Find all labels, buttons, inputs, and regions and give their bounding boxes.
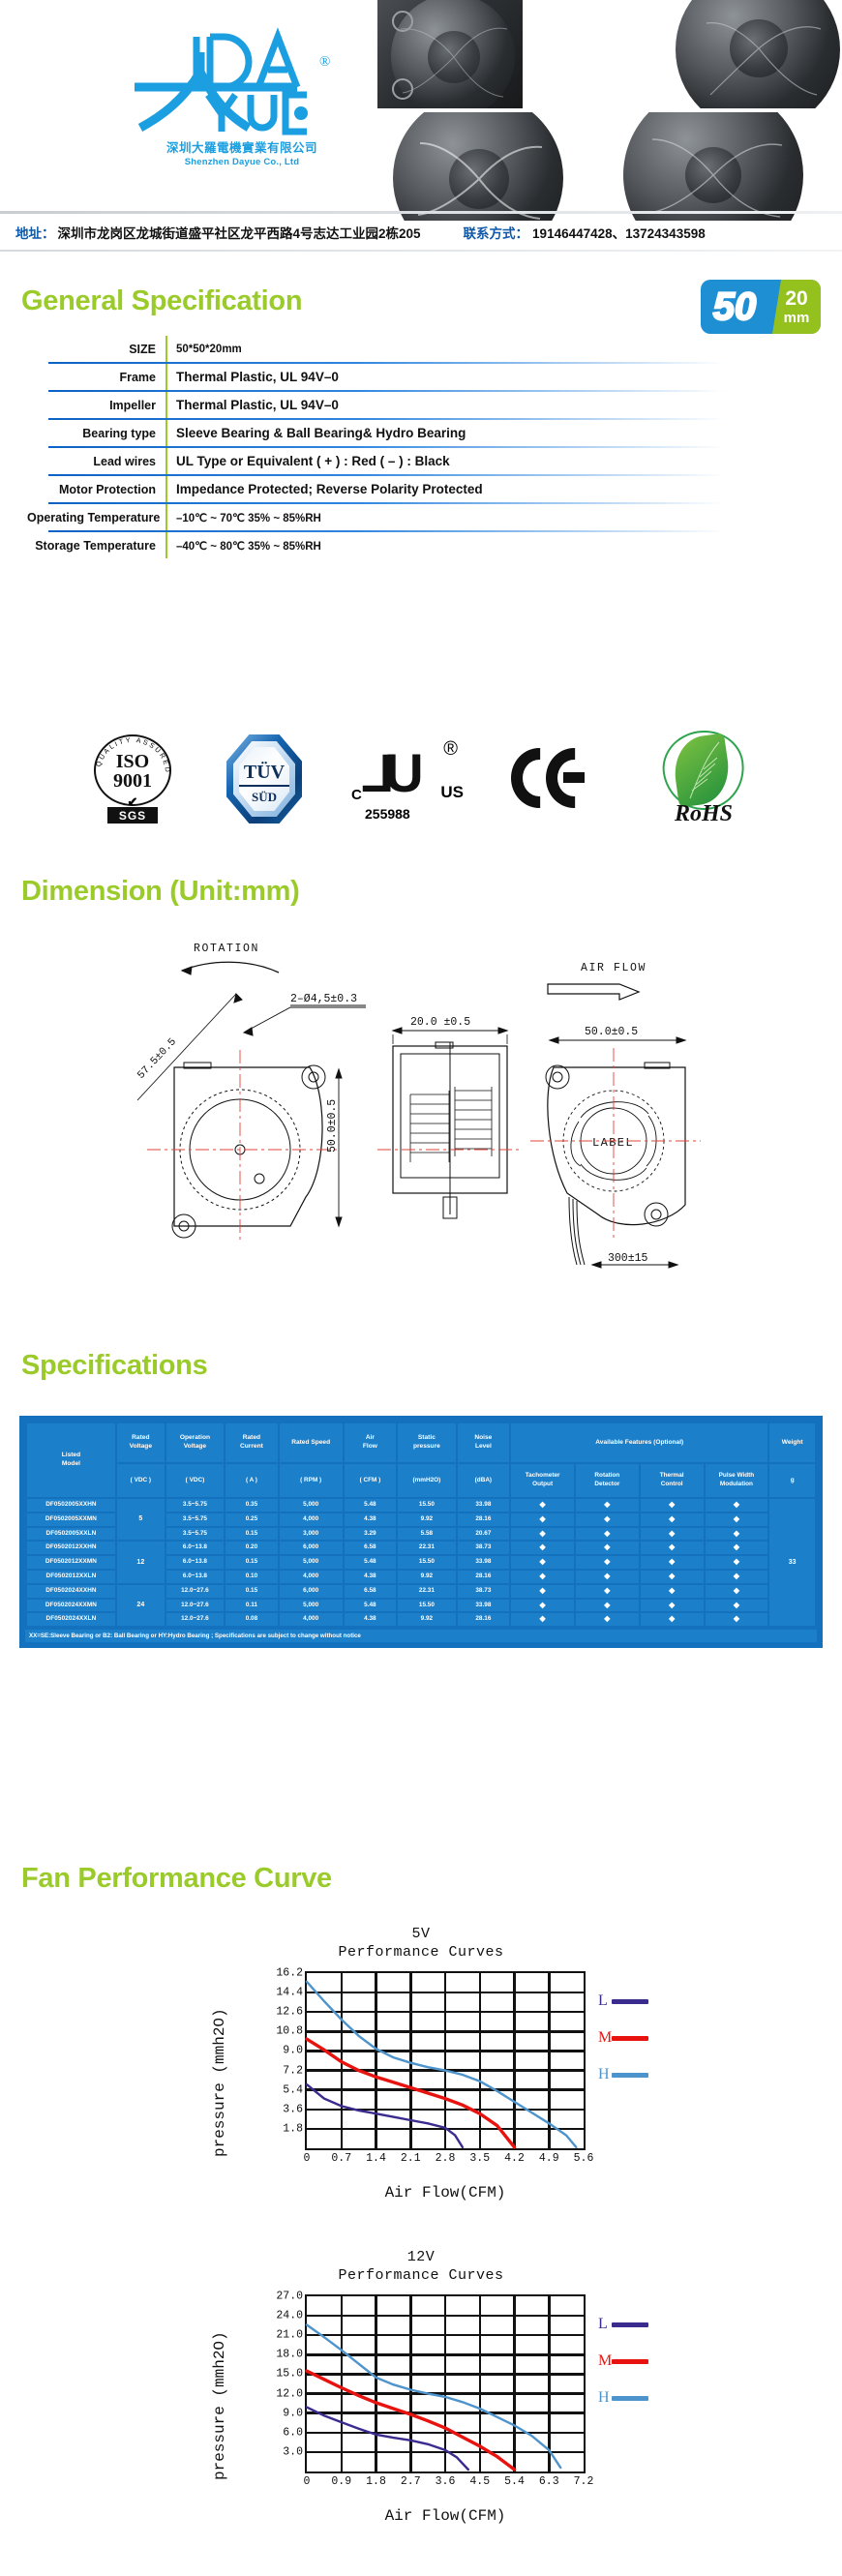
cell-model: DF0502024XXLN (27, 1613, 115, 1626)
gs-value: Thermal Plastic, UL 94V–0 (167, 370, 339, 384)
contact-label: 联系方式： (464, 223, 529, 242)
cell-tachometer-output: ◆ (511, 1499, 574, 1512)
cell-thermal-control: ◆ (641, 1528, 704, 1541)
cell-tachometer-output: ◆ (511, 1600, 574, 1612)
cell-air-flow: 4.38 (345, 1571, 397, 1583)
cell-rated-current: 0.15 (226, 1585, 278, 1598)
chart-12v-ylabel: pressure (mmh2O) (211, 2296, 228, 2480)
cell-model: DF0502012XXLN (27, 1571, 115, 1583)
badge-size: 50 (701, 280, 772, 334)
cell-thermal-control: ◆ (641, 1571, 704, 1583)
gs-row-frame: Frame Thermal Plastic, UL 94V–0 (27, 364, 792, 390)
x-axis-tick-label: 2.8 (436, 2152, 456, 2165)
address-value: 深圳市龙岗区龙城街道盛平社区龙平西路4号志达工业园2栋205 (58, 223, 421, 242)
rohs-leaf-veins (646, 731, 762, 810)
legend-swatch (612, 2036, 648, 2041)
dimension-drawing-svg: ROTATION 57.5±0.5 (0, 924, 842, 1292)
gs-row-bearing-type: Bearing type Sleeve Bearing & Ball Beari… (27, 420, 792, 446)
cell-rotation-detector: ◆ (576, 1528, 639, 1541)
cell-rotation-detector: ◆ (576, 1513, 639, 1526)
gs-value: Thermal Plastic, UL 94V–0 (167, 398, 339, 412)
cell-static-pressure: 22.31 (398, 1542, 455, 1554)
spec-header-row-main: Listed Model Rated Voltage Operation Vol… (27, 1423, 815, 1462)
gs-key: SIZE (27, 343, 165, 356)
chart-5v-legend: LMH (598, 1983, 652, 2093)
gs-value: –10℃ ~ 70℃ 35% ~ 85%RH (167, 511, 321, 524)
chart-5v-subtitle: Performance Curves (194, 1943, 648, 1962)
contact-bar: 地址： 深圳市龙岗区龙城街道盛平社区龙平西路4号志达工业园2栋205 联系方式：… (0, 217, 842, 248)
chart-5v-title: 5V (194, 1925, 648, 1943)
col-rated-speed: Rated Speed (280, 1423, 343, 1462)
depth-dimension: 20.0 ±0.5 (410, 1016, 470, 1029)
unit-operation-voltage: ( VDC) (166, 1464, 224, 1497)
x-axis-tick-label: 1.8 (366, 2475, 386, 2488)
cell-pulse-width-modulation: ◆ (706, 1613, 768, 1626)
cell-pulse-width-modulation: ◆ (706, 1600, 768, 1612)
x-axis-tick-label: 5.6 (574, 2152, 594, 2165)
cell-noise-level: 28.16 (458, 1513, 510, 1526)
chart-5v-plot: 00.71.42.12.83.54.24.95.61.83.65.47.29.0… (305, 1971, 586, 2150)
cell-air-flow: 3.29 (345, 1528, 397, 1541)
legend-swatch (612, 1999, 648, 2004)
cell-rated-speed: 6,000 (280, 1542, 343, 1554)
cell-rotation-detector: ◆ (576, 1556, 639, 1569)
company-name-english: Shenzhen Dayue Co., Ltd (185, 157, 300, 167)
cell-rotation-detector: ◆ (576, 1613, 639, 1626)
gs-key: Storage Temperature (27, 539, 165, 553)
x-axis-tick-label: 2.1 (401, 2152, 421, 2165)
logo-mark-icon: ® (121, 19, 363, 135)
tuv-sud-label: SÜD (226, 790, 302, 805)
cell-rated-current: 0.35 (226, 1499, 278, 1512)
cell-thermal-control: ◆ (641, 1600, 704, 1612)
cell-tachometer-output: ◆ (511, 1528, 574, 1541)
chart-12v-plot: 00.91.82.73.64.55.46.37.23.06.09.012.015… (305, 2294, 586, 2473)
unit-rated-speed: ( RPM ) (280, 1464, 343, 1497)
cell-thermal-control: ◆ (641, 1499, 704, 1512)
svg-text:®: ® (319, 54, 330, 70)
cell-air-flow: 5.48 (345, 1600, 397, 1612)
legend-swatch (612, 2359, 648, 2364)
col-available-features: Available Features (Optional) (511, 1423, 767, 1462)
specifications-table-wrapper: Listed Model Rated Voltage Operation Vol… (19, 1416, 823, 1648)
chart-5v-xlabel: Air Flow(CFM) (305, 2184, 586, 2202)
fan-photo-3 (377, 112, 581, 221)
cell-static-pressure: 9.92 (398, 1513, 455, 1526)
cell-thermal-control: ◆ (641, 1542, 704, 1554)
cell-pulse-width-modulation: ◆ (706, 1556, 768, 1569)
unit-rated-current: ( A ) (226, 1464, 278, 1497)
badge-size-value: 50 (713, 285, 757, 329)
lead-length-dimension: 300±15 (608, 1252, 648, 1265)
cell-noise-level: 33.98 (458, 1556, 510, 1569)
badge-thickness: 20 mm (772, 280, 821, 334)
ce-mark-icon (511, 748, 604, 810)
chart-12v-legend: LMH (598, 2306, 652, 2416)
y-axis-tick-label: 16.2 (276, 1967, 303, 1980)
header-divider-bottom (0, 250, 842, 252)
legend-key: H (598, 2389, 612, 2407)
header-divider-top (0, 211, 842, 214)
cell-pulse-width-modulation: ◆ (706, 1585, 768, 1598)
ul-file-number: 255988 (365, 806, 410, 822)
chart-series-layer (307, 1973, 584, 2148)
cell-rotation-detector: ◆ (576, 1542, 639, 1554)
chart-5v-ylabel: pressure (mmh2O) (211, 1973, 228, 2157)
iso-label: ISO 9001 (80, 752, 185, 791)
cell-static-pressure: 9.92 (398, 1613, 455, 1626)
performance-curves-section: Fan Performance Curve 5V Performance Cur… (0, 1892, 842, 2548)
spec-table-body: DF0502005XXHN53.5~5.750.355,0005.4815.50… (27, 1499, 815, 1626)
cell-thermal-control: ◆ (641, 1513, 704, 1526)
col-weight: Weight (769, 1423, 815, 1462)
y-axis-tick-label: 12.0 (276, 2387, 303, 2400)
cell-rotation-detector: ◆ (576, 1600, 639, 1612)
cell-rated-speed: 3,000 (280, 1528, 343, 1541)
ce-e-bar (563, 772, 585, 783)
hole-dimension: 2–Ø4,5±0.3 (290, 993, 357, 1005)
gs-row-lead-wires: Lead wires UL Type or Equivalent ( + ) :… (27, 448, 792, 474)
cell-tachometer-output: ◆ (511, 1542, 574, 1554)
cell-noise-level: 28.16 (458, 1613, 510, 1626)
iso-9001-icon: QUALITY ASSURED FIRM ISO 9001 ✔ SGS (80, 734, 185, 824)
cell-noise-level: 38.73 (458, 1542, 510, 1554)
cell-rated-current: 0.08 (226, 1613, 278, 1626)
cell-operation-voltage: 12.0~27.6 (166, 1600, 224, 1612)
width-dimension: 50.0±0.5 (585, 1026, 638, 1038)
y-axis-tick-label: 18.0 (276, 2349, 303, 2361)
y-axis-tick-label: 10.8 (276, 2025, 303, 2038)
cell-operation-voltage: 12.0~27.6 (166, 1613, 224, 1626)
cell-operation-voltage: 3.5~5.75 (166, 1499, 224, 1512)
cell-tachometer-output: ◆ (511, 1556, 574, 1569)
cell-noise-level: 33.98 (458, 1600, 510, 1612)
chart-12v: 12V Performance Curves pressure (mmh2O) … (194, 2248, 648, 2548)
cell-operation-voltage: 12.0~27.6 (166, 1585, 224, 1598)
cell-pulse-width-modulation: ◆ (706, 1528, 768, 1541)
cell-rated-current: 0.25 (226, 1513, 278, 1526)
gs-value: Sleeve Bearing & Ball Bearing& Hydro Bea… (167, 426, 466, 440)
cell-model: DF0502012XXMN (27, 1556, 115, 1569)
legend-item-l: L (598, 2306, 652, 2343)
col-rated-voltage: Rated Voltage (117, 1423, 165, 1462)
cell-air-flow: 4.38 (345, 1613, 397, 1626)
cell-tachometer-output: ◆ (511, 1613, 574, 1626)
curve-l (307, 2408, 468, 2470)
col-operation-voltage: Operation Voltage (166, 1423, 224, 1462)
legend-item-l: L (598, 1983, 652, 2020)
tuv-label: TÜV (239, 762, 289, 787)
gs-key: Impeller (27, 399, 165, 412)
legend-item-m: M (598, 2020, 652, 2056)
y-axis-tick-label: 3.6 (283, 2103, 303, 2115)
y-axis-tick-label: 15.0 (276, 2368, 303, 2381)
gs-key: Operating Temperature (27, 511, 165, 524)
y-axis-tick-label: 9.0 (283, 2045, 303, 2057)
cell-static-pressure: 15.50 (398, 1556, 455, 1569)
spec-footnote: XX=SE:Sleeve Bearing or B2: Ball Bearing… (25, 1630, 817, 1642)
iso-line2: 9001 (80, 771, 185, 791)
legend-key: H (598, 2066, 612, 2083)
cell-operation-voltage: 6.0~13.8 (166, 1571, 224, 1583)
y-axis-tick-label: 3.0 (283, 2445, 303, 2458)
ul-c-label: C (351, 787, 362, 803)
x-axis-tick-label: 5.4 (504, 2475, 525, 2488)
cell-model: DF0502005XXLN (27, 1528, 115, 1541)
cell-rated-speed: 4,000 (280, 1613, 343, 1626)
gs-value: –40℃ ~ 80℃ 35% ~ 85%RH (167, 539, 321, 553)
badge-unit: mm (784, 311, 810, 325)
fan-photo-4 (585, 112, 842, 221)
x-axis-tick-label: 1.4 (366, 2152, 386, 2165)
feature-pulse-width-modulation: Pulse Width Modulation (706, 1464, 768, 1497)
cell-rated-voltage: 12 (117, 1542, 165, 1582)
legend-swatch (612, 2073, 648, 2078)
chart-5v: 5V Performance Curves pressure (mmh2O) 0… (194, 1925, 648, 2225)
cell-rated-current: 0.15 (226, 1556, 278, 1569)
cell-rated-speed: 5,000 (280, 1600, 343, 1612)
legend-swatch (612, 2322, 648, 2327)
ul-listed-icon: UL C US ® 255988 (344, 734, 469, 824)
page-header: ® 深圳大羅電機實業有限公司 Shenzhen Dayue Co., Ltd (0, 0, 842, 211)
cell-pulse-width-modulation: ◆ (706, 1542, 768, 1554)
unit-noise-level: (dBA) (458, 1464, 510, 1497)
cell-rotation-detector: ◆ (576, 1499, 639, 1512)
col-air-flow: Air Flow (345, 1423, 397, 1462)
legend-key: M (598, 2352, 612, 2370)
gs-row-impeller: Impeller Thermal Plastic, UL 94V–0 (27, 392, 792, 418)
contact-value: 19146447428、13724343598 (532, 223, 706, 242)
cell-rated-current: 0.10 (226, 1571, 278, 1583)
fan-label-text: LABEL (592, 1136, 634, 1150)
chart-12v-subtitle: Performance Curves (194, 2266, 648, 2285)
sgs-badge: SGS (107, 807, 158, 824)
x-axis-tick-label: 4.9 (539, 2152, 559, 2165)
cell-model: DF0502005XXMN (27, 1513, 115, 1526)
cell-weight: 33 (769, 1499, 815, 1626)
unit-rated-voltage: ( VDC ) (117, 1464, 165, 1497)
cell-operation-voltage: 3.5~5.75 (166, 1513, 224, 1526)
chart-12v-title: 12V (194, 2248, 648, 2266)
chart-12v-xlabel: Air Flow(CFM) (305, 2507, 586, 2525)
cell-noise-level: 38.73 (458, 1585, 510, 1598)
cell-tachometer-output: ◆ (511, 1585, 574, 1598)
legend-key: M (598, 2029, 612, 2047)
col-rated-current: Rated Current (226, 1423, 278, 1462)
gs-value: Impedance Protected; Reverse Polarity Pr… (167, 482, 483, 496)
curve-l (307, 2084, 463, 2147)
cell-air-flow: 4.38 (345, 1513, 397, 1526)
legend-item-m: M (598, 2343, 652, 2380)
legend-key: L (598, 1992, 612, 2010)
gs-value: UL Type or Equivalent ( + ) : Red ( – ) … (167, 454, 450, 468)
feature-thermal-control: Thermal Control (641, 1464, 704, 1497)
size-badge: 50 20 mm (701, 280, 821, 334)
cell-operation-voltage: 3.5~5.75 (166, 1528, 224, 1541)
cell-rated-speed: 5,000 (280, 1556, 343, 1569)
cell-static-pressure: 9.92 (398, 1571, 455, 1583)
unit-weight: g (769, 1464, 815, 1497)
feature-rotation-detector: Rotation Detector (576, 1464, 639, 1497)
cell-noise-level: 28.16 (458, 1571, 510, 1583)
x-axis-tick-label: 6.3 (539, 2475, 559, 2488)
ul-us-label: US (440, 783, 464, 802)
specifications-table: Listed Model Rated Voltage Operation Vol… (25, 1422, 817, 1628)
table-row: DF0502024XXHN2412.0~27.60.156,0006.5822.… (27, 1585, 815, 1598)
cell-rated-speed: 6,000 (280, 1585, 343, 1598)
cell-static-pressure: 22.31 (398, 1585, 455, 1598)
general-specification-title: General Specification (21, 285, 302, 317)
table-row: DF0502012XXHN126.0~13.80.206,0006.5822.3… (27, 1542, 815, 1554)
performance-curves-title: Fan Performance Curve (21, 1863, 332, 1895)
cell-static-pressure: 5.58 (398, 1528, 455, 1541)
cell-rated-current: 0.15 (226, 1528, 278, 1541)
x-axis-tick-label: 7.2 (574, 2475, 594, 2488)
gs-row-operating-temperature: Operating Temperature –10℃ ~ 70℃ 35% ~ 8… (27, 504, 792, 530)
gs-row-size: SIZE 50*50*20mm (27, 336, 792, 362)
cell-rotation-detector: ◆ (576, 1585, 639, 1598)
y-axis-tick-label: 14.4 (276, 1987, 303, 1999)
cell-static-pressure: 15.50 (398, 1600, 455, 1612)
legend-swatch (612, 2396, 648, 2401)
x-axis-tick-label: 0 (304, 2152, 311, 2165)
cell-rated-speed: 4,000 (280, 1571, 343, 1583)
company-logo: ® 深圳大羅電機實業有限公司 Shenzhen Dayue Co., Ltd (106, 19, 377, 194)
y-axis-tick-label: 9.0 (283, 2407, 303, 2419)
badge-thickness-value: 20 (785, 288, 807, 309)
curve-m (307, 2039, 515, 2147)
x-axis-tick-label: 4.5 (469, 2475, 490, 2488)
address-label: 地址： (15, 223, 55, 242)
x-axis-tick-label: 3.6 (436, 2475, 456, 2488)
unit-air-flow: ( CFM ) (345, 1464, 397, 1497)
product-photo-strip (377, 0, 842, 221)
cell-thermal-control: ◆ (641, 1585, 704, 1598)
company-name-chinese: 深圳大羅電機實業有限公司 (166, 137, 317, 156)
x-axis-tick-label: 4.2 (504, 2152, 525, 2165)
y-axis-tick-label: 5.4 (283, 2083, 303, 2096)
cell-noise-level: 20.67 (458, 1528, 510, 1541)
cell-air-flow: 5.48 (345, 1556, 397, 1569)
fan-photo-2 (530, 0, 842, 108)
rohs-icon: RoHS (646, 731, 762, 827)
feature-tachometer-output: Tachometer Output (511, 1464, 574, 1497)
diagonal-dimension: 57.5±0.5 (135, 1036, 179, 1082)
cell-static-pressure: 15.50 (398, 1499, 455, 1512)
y-axis-tick-label: 27.0 (276, 2291, 303, 2303)
x-axis-tick-label: 3.5 (469, 2152, 490, 2165)
certification-logos: QUALITY ASSURED FIRM ISO 9001 ✔ SGS TÜV … (0, 721, 842, 837)
cell-tachometer-output: ◆ (511, 1513, 574, 1526)
specifications-title: Specifications (21, 1350, 207, 1382)
general-spec-table: SIZE 50*50*20mm Frame Thermal Plastic, U… (27, 336, 792, 558)
col-listed-model: Listed Model (27, 1423, 115, 1497)
cell-pulse-width-modulation: ◆ (706, 1513, 768, 1526)
cell-rated-voltage: 5 (117, 1499, 165, 1540)
ul-registered-icon: ® (443, 738, 458, 761)
ul-mark-glyph: UL (371, 746, 424, 800)
cell-operation-voltage: 6.0~13.8 (166, 1542, 224, 1554)
x-axis-tick-label: 0 (304, 2475, 311, 2488)
cell-thermal-control: ◆ (641, 1556, 704, 1569)
gs-value: 50*50*20mm (167, 344, 242, 355)
y-axis-tick-label: 24.0 (276, 2310, 303, 2322)
cell-model: DF0502012XXHN (27, 1542, 115, 1554)
cell-air-flow: 6.58 (345, 1585, 397, 1598)
tuv-sud-icon: TÜV SÜD (226, 734, 302, 824)
legend-item-h: H (598, 2380, 652, 2416)
gs-key: Motor Protection (27, 483, 165, 496)
cell-rated-current: 0.20 (226, 1542, 278, 1554)
dimension-drawing: ROTATION 57.5±0.5 (0, 924, 842, 1292)
table-row: DF0502005XXHN53.5~5.750.355,0005.4815.50… (27, 1499, 815, 1512)
cell-rotation-detector: ◆ (576, 1571, 639, 1583)
cell-pulse-width-modulation: ◆ (706, 1499, 768, 1512)
cell-rated-current: 0.11 (226, 1600, 278, 1612)
col-static-pressure: Static pressure (398, 1423, 455, 1462)
spec-header-row-units: ( VDC ) ( VDC) ( A ) ( RPM ) ( CFM ) (mm… (27, 1464, 815, 1497)
y-axis-tick-label: 6.0 (283, 2426, 303, 2439)
cell-air-flow: 5.48 (345, 1499, 397, 1512)
y-axis-tick-label: 21.0 (276, 2329, 303, 2342)
cell-thermal-control: ◆ (641, 1613, 704, 1626)
air-flow-label: AIR FLOW (581, 962, 647, 974)
y-axis-tick-label: 7.2 (283, 2064, 303, 2077)
cell-model: DF0502005XXHN (27, 1499, 115, 1512)
height-dimension: 50.0±0.5 (326, 1099, 339, 1153)
rohs-label: RoHS (646, 801, 762, 827)
legend-item-h: H (598, 2056, 652, 2093)
cell-noise-level: 33.98 (458, 1499, 510, 1512)
gs-row-motor-protection: Motor Protection Impedance Protected; Re… (27, 476, 792, 502)
x-axis-tick-label: 2.7 (401, 2475, 421, 2488)
cell-rated-speed: 4,000 (280, 1513, 343, 1526)
fan-photo-1 (377, 0, 523, 108)
gs-key: Lead wires (27, 455, 165, 468)
iso-line1: ISO (80, 752, 185, 771)
chart-series-layer (307, 2296, 584, 2471)
cell-pulse-width-modulation: ◆ (706, 1571, 768, 1583)
cell-rated-voltage: 24 (117, 1585, 165, 1626)
x-axis-tick-label: 0.9 (331, 2475, 351, 2488)
y-axis-tick-label: 1.8 (283, 2122, 303, 2135)
cell-model: DF0502024XXMN (27, 1600, 115, 1612)
y-axis-tick-label: 12.6 (276, 2006, 303, 2019)
rotation-label: ROTATION (194, 943, 259, 955)
cell-model: DF0502024XXHN (27, 1585, 115, 1598)
col-noise-level: Noise Level (458, 1423, 510, 1462)
legend-key: L (598, 2316, 612, 2333)
cell-tachometer-output: ◆ (511, 1571, 574, 1583)
dimension-title: Dimension (Unit:mm) (21, 876, 300, 908)
x-axis-tick-label: 0.7 (331, 2152, 351, 2165)
gs-key: Frame (27, 371, 165, 384)
cell-rated-speed: 5,000 (280, 1499, 343, 1512)
cell-operation-voltage: 6.0~13.8 (166, 1556, 224, 1569)
gs-row-storage-temperature: Storage Temperature –40℃ ~ 80℃ 35% ~ 85%… (27, 532, 792, 558)
gs-key: Bearing type (27, 427, 165, 440)
unit-static-pressure: (mmH2O) (398, 1464, 455, 1497)
cell-air-flow: 6.58 (345, 1542, 397, 1554)
